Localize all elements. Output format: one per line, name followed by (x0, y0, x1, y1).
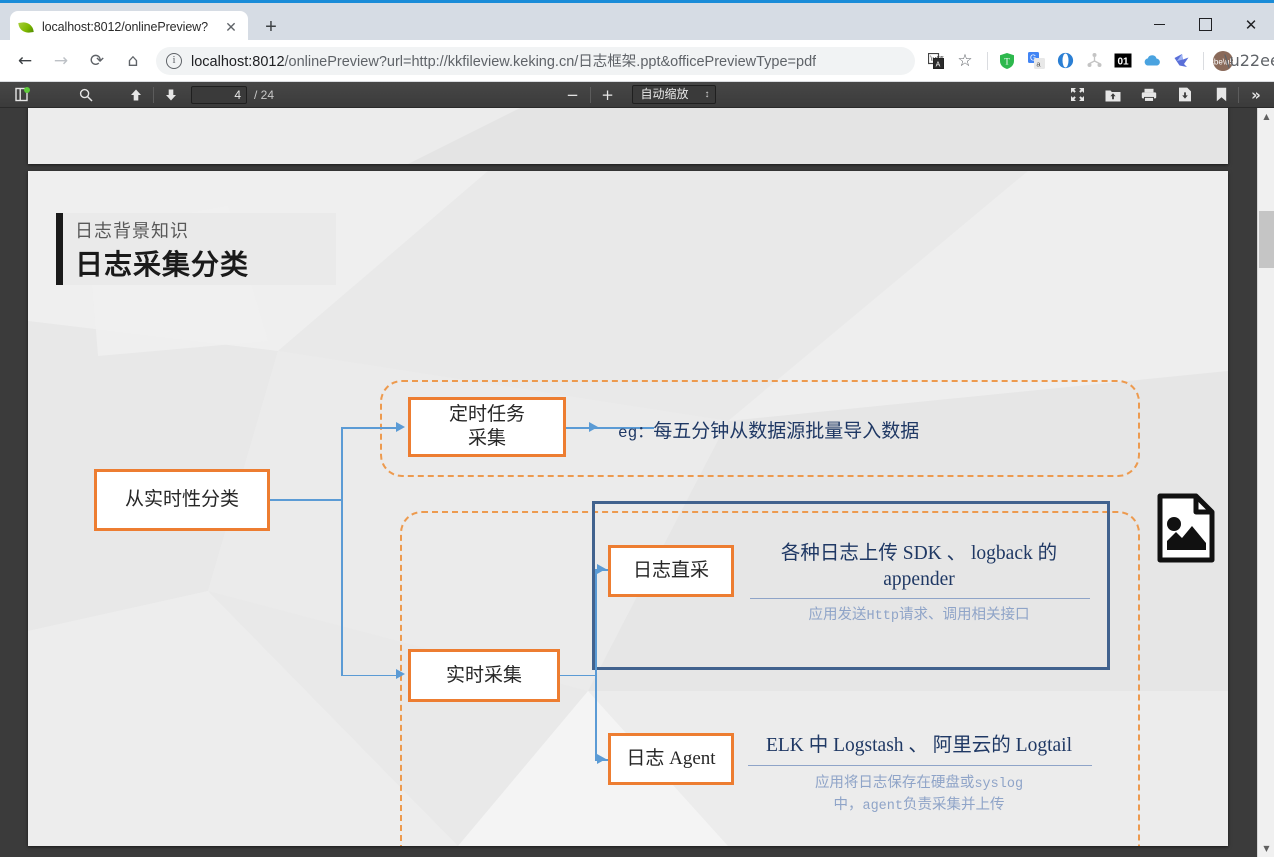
sidebar-toggle-icon[interactable] (8, 84, 36, 106)
connector-realtime-branch (595, 569, 597, 759)
back-icon[interactable]: ← (10, 46, 40, 76)
browser-tab[interactable]: localhost:8012/onlinePreview? ✕ (10, 11, 248, 43)
direct-divider (750, 598, 1090, 599)
scrollbar-thumb[interactable] (1259, 211, 1274, 268)
leaf-icon (18, 19, 34, 35)
page-down-icon[interactable] (157, 84, 185, 106)
print-icon[interactable] (1135, 84, 1163, 106)
pdf-toolbar-left: 4 / 24 (0, 84, 274, 106)
page-up-icon[interactable] (122, 84, 150, 106)
connector-trunk (341, 427, 343, 675)
scroll-up-icon[interactable]: ▲ (1258, 108, 1274, 125)
arrow-to-realtime (396, 669, 405, 679)
node-label: 日志 Agent (626, 747, 715, 771)
node-realtime-collection[interactable]: 实时采集 (408, 649, 560, 702)
window-close-icon[interactable]: ✕ (1228, 6, 1274, 43)
google-translate-extension-icon[interactable]: Ga (1023, 48, 1049, 74)
vertical-scrollbar[interactable]: ▲ ▼ (1257, 108, 1274, 857)
direct-sub-b: 请求、调用相关接口 (899, 607, 1030, 623)
divider (590, 87, 591, 103)
zoom-select[interactable]: 自动缩放 (632, 85, 716, 104)
agent-sub-l2mono: agent (862, 799, 903, 814)
divider (1203, 52, 1204, 70)
agent-sub-l1mono: syslog (974, 777, 1023, 792)
slide-content: 日志背景知识 日志采集分类 (28, 171, 1228, 846)
agent-sub-l2a: 中， (833, 797, 862, 813)
pdf-viewer-area[interactable]: 日志背景知识 日志采集分类 (0, 108, 1274, 857)
url-text: localhost:8012/onlinePreview?url=http://… (191, 50, 816, 71)
node-classify-by-realtime[interactable]: 从实时性分类 (94, 469, 270, 531)
reload-icon[interactable]: ⟳ (82, 46, 112, 76)
scroll-down-icon[interactable]: ▼ (1258, 840, 1274, 857)
svg-text:01: 01 (1117, 56, 1129, 67)
bird-extension-icon[interactable] (1168, 48, 1194, 74)
node-label: 实时采集 (446, 664, 522, 688)
title-bar: localhost:8012/onlinePreview? ✕ + ✕ (0, 0, 1274, 40)
bookmark-star-icon[interactable]: ☆ (952, 48, 978, 74)
minimize-icon[interactable] (1136, 6, 1182, 43)
forward-icon[interactable]: → (46, 46, 76, 76)
node-label-line2: 采集 (468, 428, 506, 449)
zoom-in-button[interactable]: + (594, 84, 622, 106)
search-icon[interactable] (72, 84, 100, 106)
site-info-icon[interactable]: i (166, 53, 182, 69)
svg-text:T: T (1004, 56, 1010, 66)
node-scheduled-collection[interactable]: 定时任务 采集 (408, 397, 566, 457)
connector-root-right (270, 499, 342, 501)
broken-image-icon (1157, 493, 1215, 563)
node-label: 从实时性分类 (125, 488, 239, 512)
divider (1238, 87, 1239, 103)
more-tools-icon[interactable]: » (1242, 84, 1270, 106)
node-label: 定时任务 采集 (449, 403, 525, 451)
url-path: /onlinePreview?url=http://kkfileview.kek… (285, 54, 817, 70)
close-icon[interactable]: ✕ (222, 18, 240, 36)
eg-prefix: eg： (618, 424, 653, 442)
network-extension-icon[interactable] (1081, 48, 1107, 74)
pdf-page-current: 日志背景知识 日志采集分类 (28, 171, 1228, 846)
direct-description-main: 各种日志上传 SDK 、 logback 的 appender (744, 541, 1094, 594)
arrow-to-direct (597, 564, 606, 574)
url-host: localhost:8012 (191, 54, 285, 70)
tab-title: localhost:8012/onlinePreview? (42, 20, 222, 34)
download-icon[interactable] (1171, 84, 1199, 106)
window-controls: ✕ (1136, 6, 1274, 43)
connector-to-realtime (341, 675, 396, 677)
translate-icon[interactable]: \u6587A (923, 48, 949, 74)
browser-window: localhost:8012/onlinePreview? ✕ + ✕ ← → … (0, 0, 1274, 857)
arrow-to-eg (589, 422, 598, 432)
direct-sub-a: 应用发送 (809, 607, 867, 623)
arrow-to-agent (597, 754, 606, 764)
agent-description-sub: 应用将日志保存在硬盘或syslog 中，agent负责采集并上传 (744, 773, 1094, 816)
pdf-toolbar-right: » (1063, 84, 1270, 106)
eg-body: 每五分钟从数据源批量导入数据 (653, 421, 919, 442)
pdf-toolbar: 4 / 24 − + 自动缩放 » (0, 82, 1274, 108)
arrow-to-scheduled (396, 422, 405, 432)
connector-to-scheduled (341, 427, 396, 429)
chrome-menu-icon[interactable]: \u22ee (1239, 48, 1265, 74)
cloud-extension-icon[interactable] (1139, 48, 1165, 74)
node-direct-logging[interactable]: 日志直采 (608, 545, 734, 597)
slide-title: 日志采集分类 (75, 243, 249, 283)
node-log-agent[interactable]: 日志 Agent (608, 733, 734, 785)
maximize-icon[interactable] (1182, 6, 1228, 43)
agent-divider (748, 765, 1092, 766)
new-tab-button[interactable]: + (258, 15, 284, 41)
direct-description-sub: 应用发送Http请求、调用相关接口 (744, 605, 1094, 627)
divider (153, 87, 154, 103)
pdf-toolbar-zoom-controls: − + 自动缩放 (512, 84, 762, 106)
page-number-input[interactable]: 4 (191, 86, 247, 104)
agent-description-main: ELK 中 Logstash 、 阿里云的 Logtail (744, 733, 1094, 759)
home-icon[interactable]: ⌂ (118, 46, 148, 76)
open-file-icon[interactable] (1099, 84, 1127, 106)
address-bar[interactable]: i localhost:8012/onlinePreview?url=http:… (156, 47, 915, 75)
node-label: 日志直采 (633, 559, 709, 583)
node-label-line1: 定时任务 (449, 404, 525, 425)
opera-extension-icon[interactable] (1052, 48, 1078, 74)
scheduled-example-text: eg：每五分钟从数据源批量导入数据 (618, 416, 919, 443)
page-count-label: / 24 (254, 88, 274, 102)
direct-sub-mono: Http (867, 609, 899, 624)
connector-realtime-right (560, 675, 596, 677)
slide-subtitle: 日志背景知识 (75, 217, 189, 243)
presentation-mode-icon[interactable] (1063, 84, 1091, 106)
bookmark-icon[interactable] (1207, 84, 1235, 106)
agent-sub-l2b: 负责采集并上传 (903, 797, 1005, 813)
tab-strip: localhost:8012/onlinePreview? ✕ + (0, 6, 1120, 43)
divider (987, 52, 988, 70)
zero-one-extension-icon[interactable]: 01 (1110, 48, 1136, 74)
zoom-out-button[interactable]: − (559, 84, 587, 106)
shield-extension-icon[interactable]: T (994, 48, 1020, 74)
agent-sub-l1a: 应用将日志保存在硬盘或 (815, 775, 975, 791)
navigation-bar: ← → ⟳ ⌂ i localhost:8012/onlinePreview?u… (0, 40, 1274, 82)
pdf-page-previous (28, 108, 1228, 164)
extension-bar: \u6587A ☆ T Ga 01 (923, 48, 1274, 74)
svg-text:A: A (936, 61, 941, 68)
title-accent-bar (56, 213, 63, 285)
